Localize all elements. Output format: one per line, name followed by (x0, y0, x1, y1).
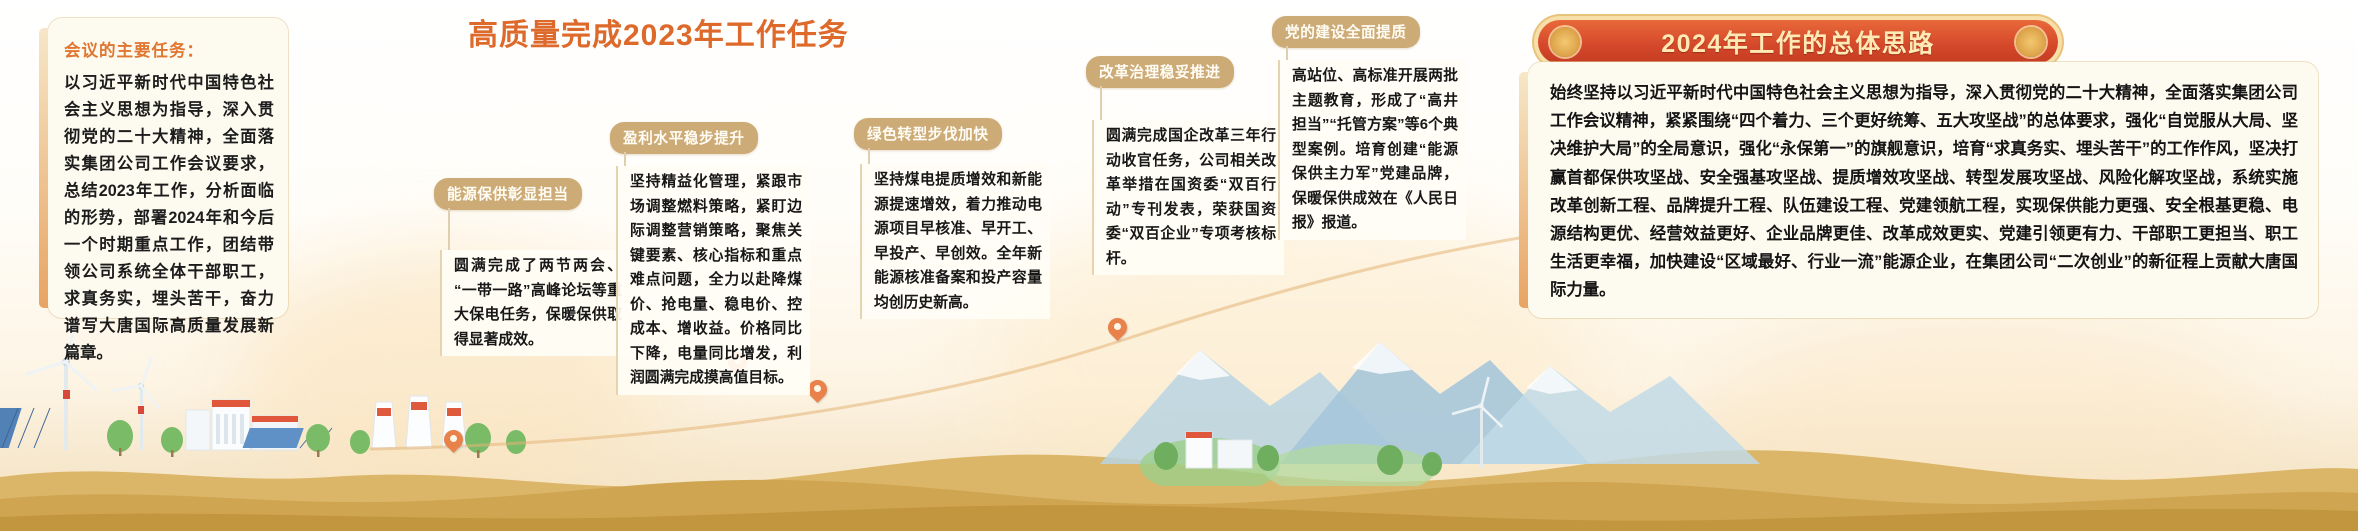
column-stem-3 (868, 148, 870, 164)
column-stem-1 (448, 208, 450, 250)
overall-thinking-panel: 始终坚持以习近平新时代中国特色社会主义思想为指导，深入贯彻党的二十大精神，全面落… (1528, 62, 2318, 318)
column-card-3: 坚持煤电提质增效和新能源提速增效，着力推动电源项目早核准、早开工、早投产、早创效… (860, 164, 1050, 319)
banner-title: 2024年工作的总体思路 (1538, 20, 2058, 64)
map-pin-icon (808, 380, 827, 399)
column-tag-3[interactable]: 绿色转型步伐加快 (854, 118, 1002, 150)
column-card-4: 圆满完成国企改革三年行动收官任务，公司相关改革举措在国资委“双百行动”专刊发表，… (1092, 120, 1284, 275)
column-body-2: 坚持精益化管理，紧跟市场调整燃料策略，紧盯边际调整营销策略，聚焦关键要素、核心指… (630, 170, 802, 391)
page-title: 高质量完成2023年工作任务 (468, 10, 849, 54)
column-body-1: 圆满完成了两节两会、“一带一路”高峰论坛等重大保电任务，保暖保供取得显著成效。 (454, 254, 622, 352)
panel-accent-bar (1519, 72, 1528, 308)
overall-thinking-banner: 2024年工作的总体思路 (1538, 20, 2058, 64)
map-pin-icon (1108, 318, 1127, 337)
column-tag-1[interactable]: 能源保供彰显担当 (434, 178, 582, 210)
map-pin-icon (444, 430, 463, 449)
column-stem-4 (1100, 86, 1102, 120)
panel-accent-bar (39, 28, 48, 308)
column-stem-2 (624, 152, 626, 166)
meeting-tasks-panel: 会议的主要任务： 以习近平新时代中国特色社会主义思想为指导，深入贯彻党的二十大精… (48, 18, 288, 318)
column-card-1: 圆满完成了两节两会、“一带一路”高峰论坛等重大保电任务，保暖保供取得显著成效。 (440, 250, 630, 356)
column-tag-2[interactable]: 盈利水平稳步提升 (610, 122, 758, 154)
meeting-tasks-body: 以习近平新时代中国特色社会主义思想为指导，深入贯彻党的二十大精神，全面落实集团公… (64, 70, 274, 367)
infographic-canvas: 会议的主要任务： 以习近平新时代中国特色社会主义思想为指导，深入贯彻党的二十大精… (0, 0, 2358, 531)
column-card-5: 高站位、高标准开展两批主题教育，形成了“高井担当”“托管方案”等6个典型案例。培… (1278, 60, 1466, 240)
meeting-tasks-title: 会议的主要任务： (64, 37, 288, 61)
column-group-2: 盈利水平稳步提升 (610, 122, 758, 154)
column-card-2: 坚持精益化管理，紧跟市场调整燃料策略，紧盯边际调整营销策略，聚焦关键要素、核心指… (616, 166, 810, 395)
column-stem-5 (1286, 46, 1288, 60)
column-group-5: 党的建设全面提质 (1272, 16, 1420, 48)
column-body-3: 坚持煤电提质增效和新能源提速增效，着力推动电源项目早核准、早开工、早投产、早创效… (874, 168, 1042, 315)
column-body-5: 高站位、高标准开展两批主题教育，形成了“高井担当”“托管方案”等6个典型案例。培… (1292, 64, 1458, 236)
column-group-1: 能源保供彰显担当 (434, 178, 582, 210)
column-group-3: 绿色转型步伐加快 (854, 118, 1002, 150)
column-body-4: 圆满完成国企改革三年行动收官任务，公司相关改革举措在国资委“双百行动”专刊发表，… (1106, 124, 1276, 271)
column-tag-4[interactable]: 改革治理稳妥推进 (1086, 56, 1234, 88)
overall-thinking-body: 始终坚持以习近平新时代中国特色社会主义思想为指导，深入贯彻党的二十大精神，全面落… (1550, 79, 2298, 305)
column-group-4: 改革治理稳妥推进 (1086, 56, 1234, 88)
column-tag-5[interactable]: 党的建设全面提质 (1272, 16, 1420, 48)
